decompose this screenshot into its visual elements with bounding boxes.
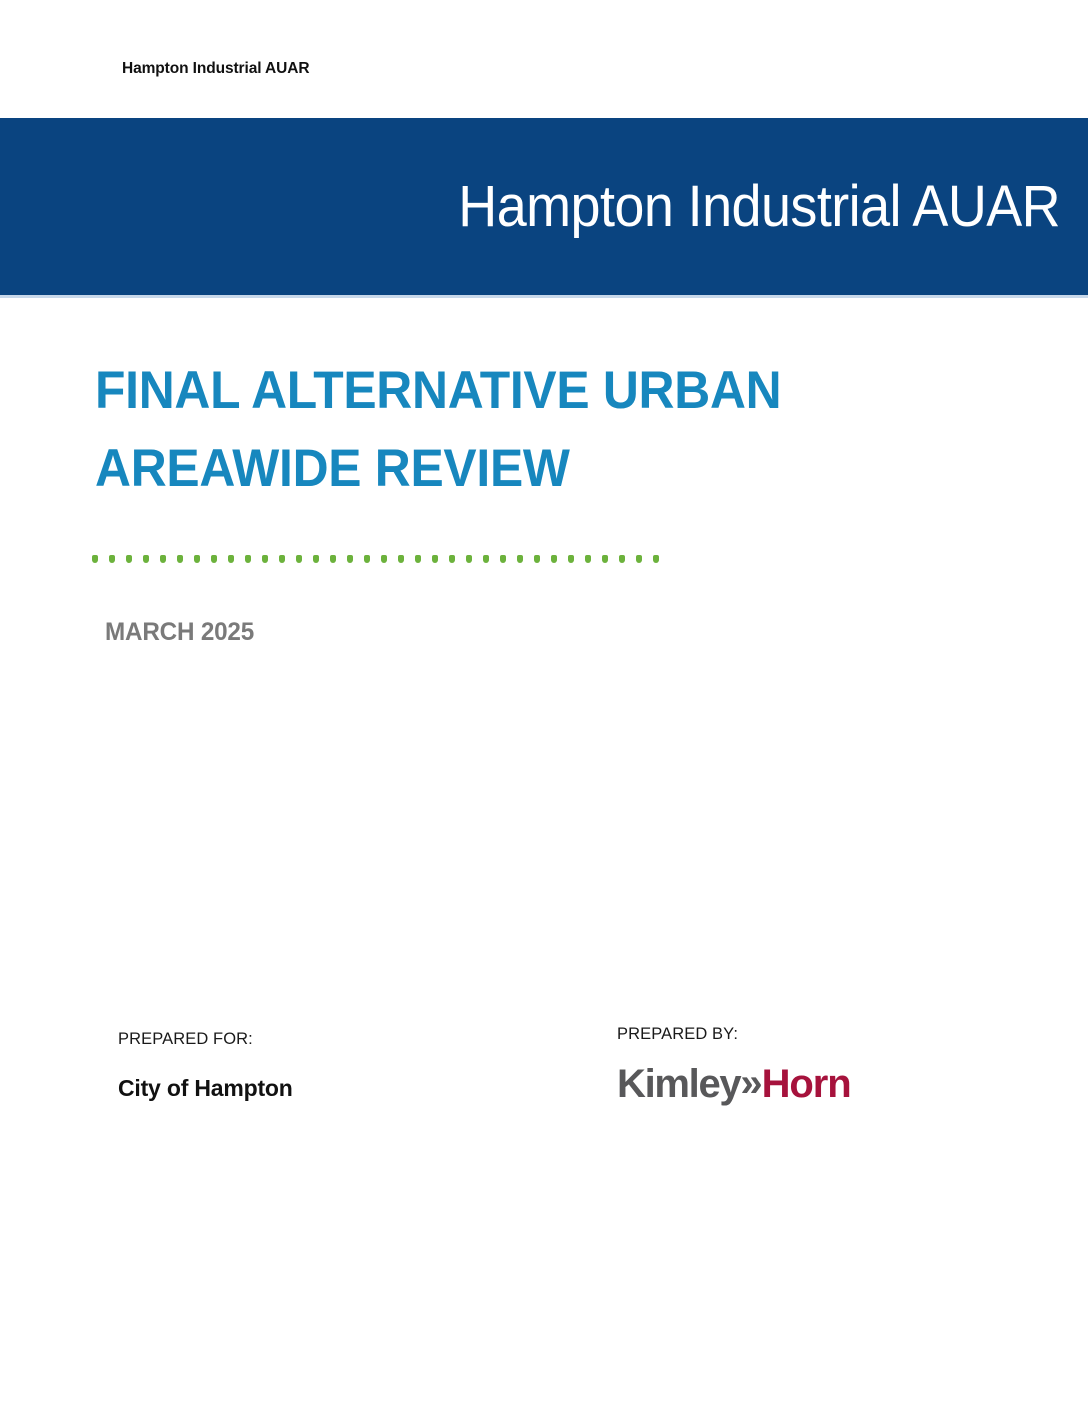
credits-section: PREPARED FOR: City of Hampton PREPARED B… (0, 1030, 1088, 1150)
divider-dot (398, 555, 404, 563)
logo-word-kimley: Kimley (617, 1064, 740, 1104)
kimley-horn-logo: Kimley » Horn (617, 1064, 851, 1104)
divider-dot (364, 555, 370, 563)
divider-dot (636, 555, 642, 563)
divider-dot (568, 555, 574, 563)
divider-dot (381, 555, 387, 563)
prepared-for-value: City of Hampton (118, 1075, 293, 1102)
cover-date: MARCH 2025 (105, 618, 254, 647)
prepared-for-label: PREPARED FOR: (118, 1030, 293, 1049)
divider-dot (483, 555, 489, 563)
divider-dot (262, 555, 268, 563)
dotted-divider (92, 553, 676, 565)
divider-dot (602, 555, 608, 563)
divider-dot (653, 555, 659, 563)
prepared-by-block: PREPARED BY: Kimley » Horn (617, 1025, 851, 1104)
divider-dot (109, 555, 115, 563)
divider-dot (279, 555, 285, 563)
double-chevron-icon: » (740, 1063, 760, 1103)
prepared-for-block: PREPARED FOR: City of Hampton (118, 1030, 293, 1102)
cover-heading: FINAL ALTERNATIVE URBAN AREAWIDE REVIEW (95, 352, 875, 508)
divider-dot (534, 555, 540, 563)
banner-title: Hampton Industrial AUAR (458, 178, 1060, 236)
divider-dot (177, 555, 183, 563)
divider-dot (551, 555, 557, 563)
divider-dot (211, 555, 217, 563)
divider-dot (432, 555, 438, 563)
banner-underline-rule (0, 295, 1088, 298)
running-header-title: Hampton Industrial AUAR (122, 60, 1088, 78)
divider-dot (126, 555, 132, 563)
divider-dot (194, 555, 200, 563)
divider-dot (330, 555, 336, 563)
divider-dot (92, 555, 98, 563)
divider-dot (449, 555, 455, 563)
divider-dot (228, 555, 234, 563)
prepared-by-label: PREPARED BY: (617, 1025, 851, 1044)
divider-dot (347, 555, 353, 563)
divider-dot (415, 555, 421, 563)
divider-dot (143, 555, 149, 563)
title-banner: Hampton Industrial AUAR (0, 118, 1088, 295)
divider-dot (245, 555, 251, 563)
divider-dot (466, 555, 472, 563)
logo-word-horn: Horn (762, 1064, 851, 1104)
divider-dot (313, 555, 319, 563)
document-running-header: Hampton Industrial AUAR (0, 0, 1088, 118)
divider-dot (619, 555, 625, 563)
divider-dot (585, 555, 591, 563)
divider-dot (500, 555, 506, 563)
divider-dot (160, 555, 166, 563)
divider-dot (517, 555, 523, 563)
divider-dot (296, 555, 302, 563)
